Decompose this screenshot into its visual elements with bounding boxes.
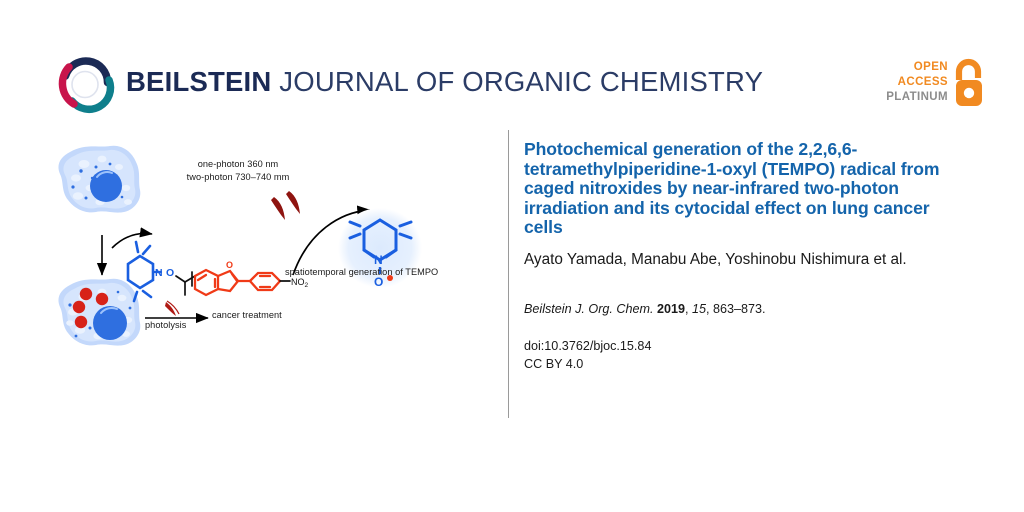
open-access-line-platinum: PLATINUM [886,90,948,105]
citation-journal: Beilstein J. Org. Chem. [524,302,653,316]
light-flash-icon [271,197,285,220]
irradiation-line-1: one-photon 360 nm [198,159,279,169]
masthead: BEILSTEIN JOURNAL OF ORGANIC CHEMISTRY O… [0,0,1024,128]
doi-and-license-block: doi:10.3762/bjoc.15.84 CC BY 4.0 [524,338,964,373]
photolysis-arrow-label: photolysis [145,320,186,330]
top-cell-illustration [58,146,140,213]
open-padlock-icon [950,58,988,110]
label-nitro: NO2 [291,277,309,289]
irradiation-conditions-label: one-photon 360 nm two-photon 730–740 mm [148,158,328,183]
open-access-text: OPEN ACCESS PLATINUM [886,60,948,105]
molecule-entry-arrow [112,234,152,248]
label-oxygen-ether: O [166,267,174,279]
column-divider [508,130,509,418]
open-access-badge: OPEN ACCESS PLATINUM [876,58,988,114]
beilstein-swirl-logo-icon [52,52,118,118]
irradiation-line-2: two-photon 730–740 mm [187,172,290,182]
article-summary-panel: Photochemical generation of the 2,2,6,6-… [524,140,964,373]
caged-nitroxide-structure: N O O [128,242,309,301]
article-doi[interactable]: doi:10.3762/bjoc.15.84 [524,338,964,356]
masthead-brand: BEILSTEIN [126,66,271,97]
masthead-subtitle: JOURNAL OF ORGANIC CHEMISTRY [271,66,763,97]
article-license[interactable]: CC BY 4.0 [524,356,964,374]
tempo-radical-dot [80,288,92,300]
masthead-journal-title: BEILSTEIN JOURNAL OF ORGANIC CHEMISTRY [126,66,763,98]
citation-separator-1: , [685,302,689,316]
light-flash-icon [286,191,300,214]
label-tempo-nitrogen: N [374,253,383,267]
bottom-cell-illustration [58,279,140,346]
open-access-line-access: ACCESS [886,75,948,90]
citation-volume: 15 [692,302,706,316]
cancer-treatment-label: cancer treatment [212,310,282,320]
tempo-radical-dot [75,316,87,328]
product-caption-label: spatiotemporal generation of TEMPO [285,267,438,277]
citation-year: 2019 [657,302,685,316]
label-oxygen-furan: O [226,260,233,270]
article-authors: Ayato Yamada, Manabu Abe, Yoshinobu Nish… [524,250,964,271]
tempo-radical-dot [73,301,85,313]
article-title[interactable]: Photochemical generation of the 2,2,6,6-… [524,140,964,238]
photolysis-arrow [145,301,208,318]
citation-pages: 863–873. [713,302,766,316]
tempo-radical-dot [96,293,108,305]
label-nitrogen: N [155,267,163,279]
article-citation: Beilstein J. Org. Chem. 2019, 15, 863–87… [524,300,964,318]
open-access-line-open: OPEN [886,60,948,75]
label-tempo-oxygen: O [374,275,383,289]
citation-separator-2: , [706,302,710,316]
graphical-abstract-figure: N O O [40,140,500,370]
